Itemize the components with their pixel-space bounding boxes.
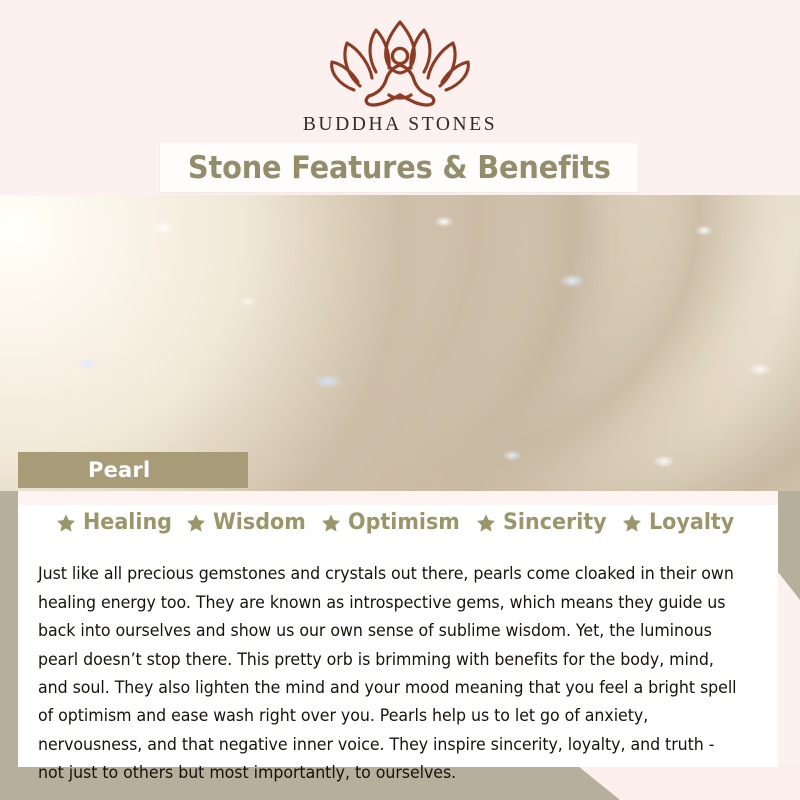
benefit-item-sincerity: Sincerity — [476, 510, 613, 535]
benefit-label: Loyalty — [649, 510, 734, 535]
pearl-hero-image — [0, 195, 800, 491]
brand-logo[interactable]: BUDDHA STONES — [270, 16, 530, 136]
stone-name-badge: Pearl — [18, 452, 248, 488]
benefits-row: Healing Wisdom Optimism — [18, 510, 778, 535]
star-icon — [321, 513, 341, 533]
benefit-item-optimism: Optimism — [321, 510, 467, 535]
content-card: Healing Wisdom Optimism — [18, 491, 778, 767]
card-top-tint — [18, 491, 778, 505]
frame-accent-left — [0, 478, 20, 800]
benefit-label: Healing — [83, 510, 172, 535]
benefit-label: Wisdom — [213, 510, 306, 535]
pearl-highlight-layer — [0, 195, 800, 491]
page-title: Stone Features & Benefits — [188, 150, 611, 186]
title-banner: Stone Features & Benefits — [160, 143, 638, 192]
benefit-item-healing: Healing — [56, 510, 178, 535]
brand-wordmark: BUDDHA STONES — [270, 114, 530, 136]
star-icon — [186, 513, 206, 533]
star-icon — [476, 513, 496, 533]
stone-description-text: Just like all precious gemstones and cry… — [38, 560, 739, 787]
stone-name-label: Pearl — [88, 458, 150, 482]
benefit-item-wisdom: Wisdom — [186, 510, 312, 535]
star-icon — [56, 513, 76, 533]
lotus-meditation-figure-icon — [320, 16, 480, 108]
benefit-item-loyalty: Loyalty — [622, 510, 740, 535]
star-icon — [622, 513, 642, 533]
benefit-label: Sincerity — [503, 510, 607, 535]
benefit-label: Optimism — [348, 510, 460, 535]
infographic-canvas: BUDDHA STONES Stone Features & Benefits … — [0, 0, 800, 800]
